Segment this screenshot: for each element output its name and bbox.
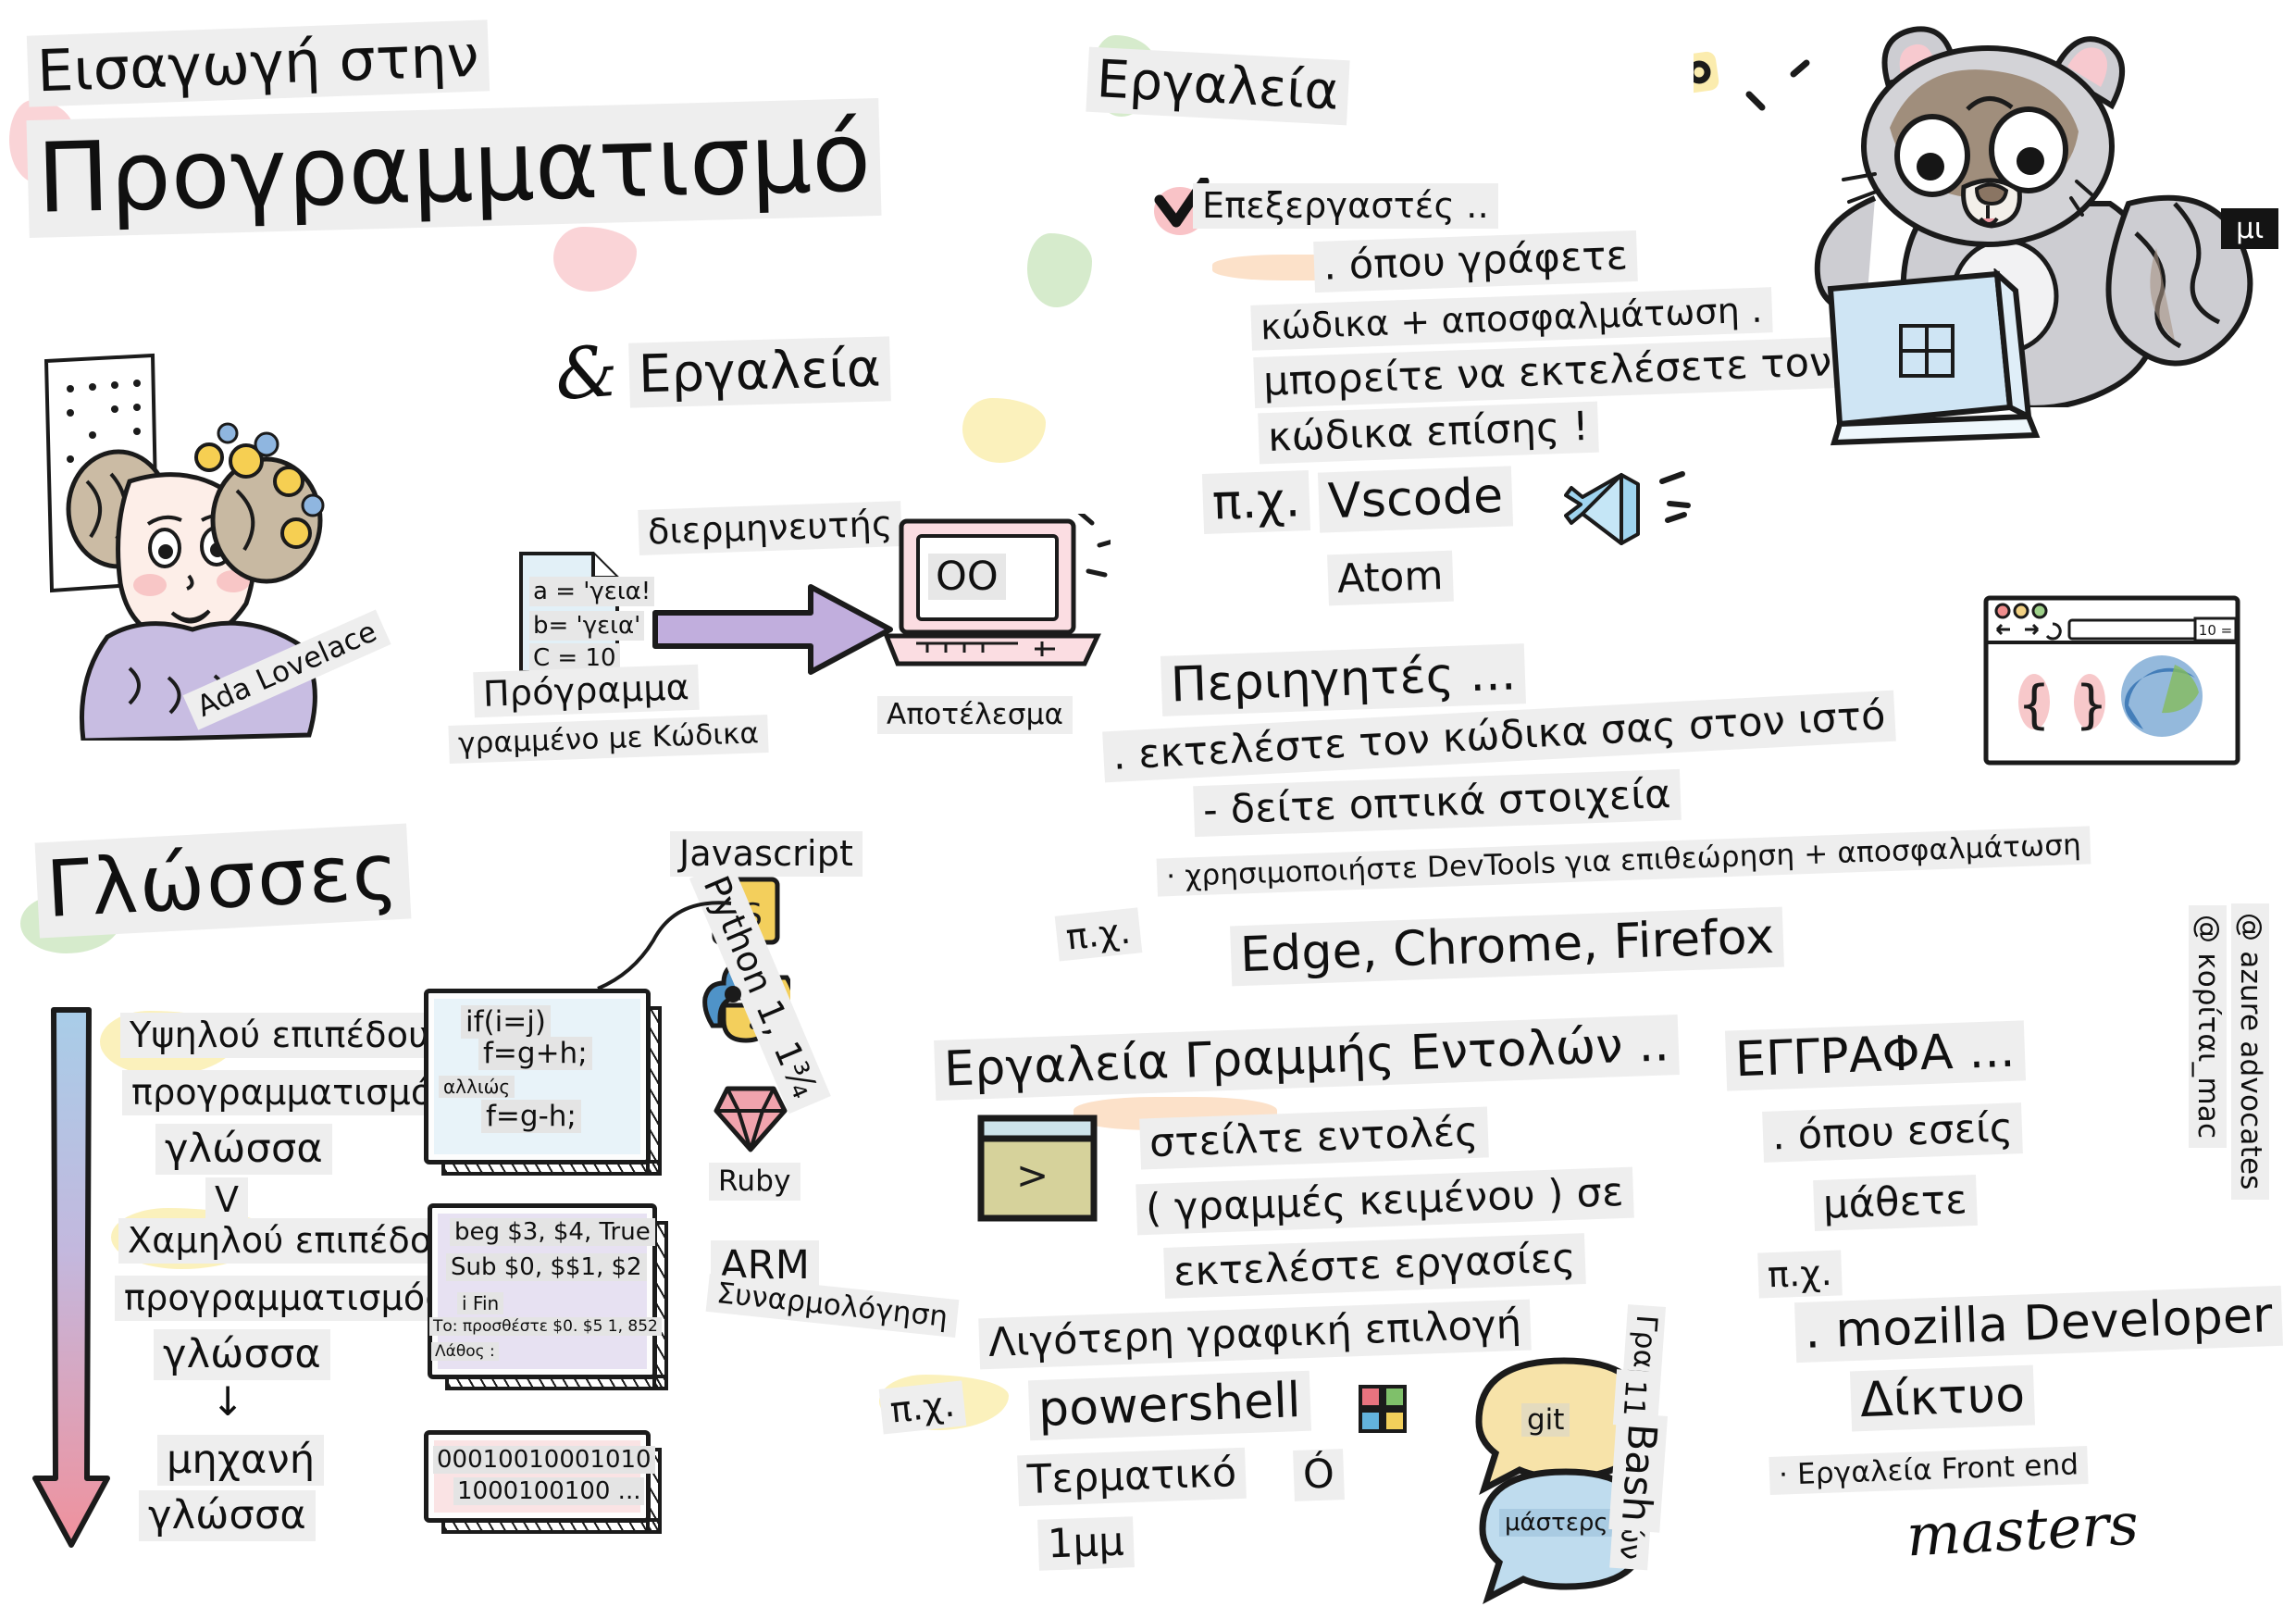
svg-text:>: > [1016,1152,1049,1198]
editors-line-4: κώδικα επίσης ! [1258,402,1599,465]
docs-footnote: · Εργαλεία Front end [1769,1446,2089,1495]
editors-example-prefix: π.χ. [1202,470,1310,534]
high-level-code-line-4: f=g-h; [481,1100,581,1133]
connector-line-js [592,889,750,1009]
ruby-logo-icon [711,1081,790,1155]
result-screen-text: OO [928,554,1006,600]
blob-yellow-tools [962,398,1046,463]
browsers-example-prefix: π.χ. [1055,907,1142,961]
tools-heading: Εργαλεία [1086,47,1349,126]
docs-example-network: Δίκτυο [1850,1365,2035,1432]
blob-green-tools [1027,233,1092,307]
editors-line-1: . όπου γράφετε [1313,230,1638,293]
ladder-item-1: προγραμματισμός [122,1070,463,1115]
page-subtitle: Εισαγωγή στην [27,19,490,106]
windows-logo-icon [1355,1381,1412,1438]
credit-azure-advocates: @ azure advocates [2231,903,2269,1200]
blob-pink-amp [553,227,637,292]
ampersand-glyph: & [552,330,621,417]
browser-window-doodle: 10 = { } [1980,592,2249,778]
svg-text:10 =: 10 = [2199,622,2232,639]
git-label: git [1521,1403,1570,1437]
vscode-logo-icon [1564,467,1647,551]
ladder-item-9: γλώσσα [139,1490,316,1541]
browsers-line-2: - δείτε οπτικά στοιχεία [1193,769,1681,837]
editors-example-vscode: Vscode [1318,466,1513,533]
cli-line-2: ( γραμμές κειμένου ) σε [1136,1167,1633,1235]
ladder-item-0: Υψηλού επιπέδου [120,1013,438,1058]
docs-line-2: μάθετε [1813,1175,1977,1231]
program-caption-line1: Πρόγραμμα [473,665,699,717]
program-code-line-2: b= 'γεια' [529,611,644,641]
ladder-item-5: προγραμματισμός [115,1276,455,1321]
high-level-code-line-3: αλλιώς [439,1076,515,1098]
docs-example-mdn: . mozilla Developer [1794,1286,2283,1364]
cli-example-1mm: 1μμ [1037,1516,1135,1570]
signature-masters: masters [1905,1489,2140,1569]
high-level-code-line-2: f=g+h; [478,1037,592,1070]
ladder-item-4: Χαμηλού επιπέδου [118,1218,462,1264]
javascript-label: Javascript [670,831,863,877]
page-title: Προγραμματισμό [26,98,881,238]
program-code-line-1: a = 'γεια! [529,577,654,606]
terminal-icon: > [972,1109,1111,1229]
card-shade-right [646,1006,662,1176]
ladder-item-7: ↓ [211,1379,244,1426]
svg-text:}: } [2075,675,2108,735]
cli-line-3: εκτελέστε εργασίες [1163,1233,1585,1299]
card-shade-bottom [441,1160,662,1176]
ladder-item-2: γλώσσα [155,1124,332,1175]
assembly-code-line-4: Το: προσθέστε $0. $5 1, 852 [429,1317,662,1336]
machine-code-card [424,1430,651,1523]
assembly-code-line-2: Sub $0, $$1, $2 [446,1253,647,1281]
svg-text:{: { [2017,675,2051,735]
machine-code-line-2: 1000100100 ... [453,1477,644,1505]
page-title-tools: Εργαλεία [628,336,891,407]
editors-example-atom: Atom [1327,551,1453,605]
raccoon-laptop-icon [1816,268,2075,454]
docs-heading: ΕΓΓΡΑΦΑ ... [1725,1020,2026,1091]
assembly-code-line-1: beg $3, $4, True [450,1218,655,1246]
program-caption-line2: γραμμένο με Κώδικα [448,715,768,764]
assembly-card-shade-right [652,1221,668,1390]
browsers-line-3: · χρησιμοποιήστε DevTools για επιθεώρηση… [1157,826,2091,896]
languages-gradient-arrow-icon [31,1004,115,1560]
cli-example-powershell: powershell [1028,1371,1311,1441]
docs-example-prefix: π.χ. [1757,1250,1842,1298]
assembly-code-line-5: Λάθος : [431,1342,499,1361]
high-level-code-line-1: if(i=j) [461,1005,551,1039]
cli-example-prefix: π.χ. [879,1380,966,1434]
result-caption: Αποτέλεσμα [877,696,1073,734]
cli-line-1: στείλτε εντολές [1139,1106,1488,1169]
cli-example-o: Ó [1293,1449,1345,1501]
ruby-label: Ruby [709,1163,800,1201]
assembly-code-line-3: i Fin [457,1292,503,1314]
machine-code-line-1: 00010010001010 [433,1446,655,1474]
editors-heading: Επεξεργαστές .. [1193,183,1498,229]
raccoon-tail-label: μι [2221,208,2278,249]
cli-side-label-bash: Bash [1609,1413,1668,1533]
languages-heading: Γλώσσες [35,824,412,939]
ladder-item-8: μηχανή [157,1435,324,1486]
browsers-examples: Edge, Chrome, Firefox [1230,907,1784,987]
vscode-sparkles-icon [1651,463,1725,537]
cli-example-terminal: Τερματικό [1017,1448,1247,1506]
browsers-heading: Περιηγητές ... [1160,643,1526,716]
assembly-sublabel: Συναρμολόγηση [706,1274,960,1338]
credit-koritsi-mac: @ κορίται_mac [2189,905,2227,1148]
interpreter-arrow-label: διερμηνευτής [638,501,902,555]
sketchnote-canvas: Εισαγωγή στην Προγραμματισμό & Εργαλεία … [0,0,2296,1619]
assembly-card-shade-bottom [445,1375,668,1390]
masters-bubble-label: μάστερς [1499,1509,1614,1537]
cli-heading: Εργαλεία Γραμμής Εντολών .. [934,1015,1680,1101]
machine-card-shade-bottom [441,1518,662,1534]
ladder-item-3: V [205,1177,248,1223]
docs-line-1: . όπου εσείς [1762,1102,2023,1162]
ladder-item-6: γλώσσα [154,1329,330,1380]
